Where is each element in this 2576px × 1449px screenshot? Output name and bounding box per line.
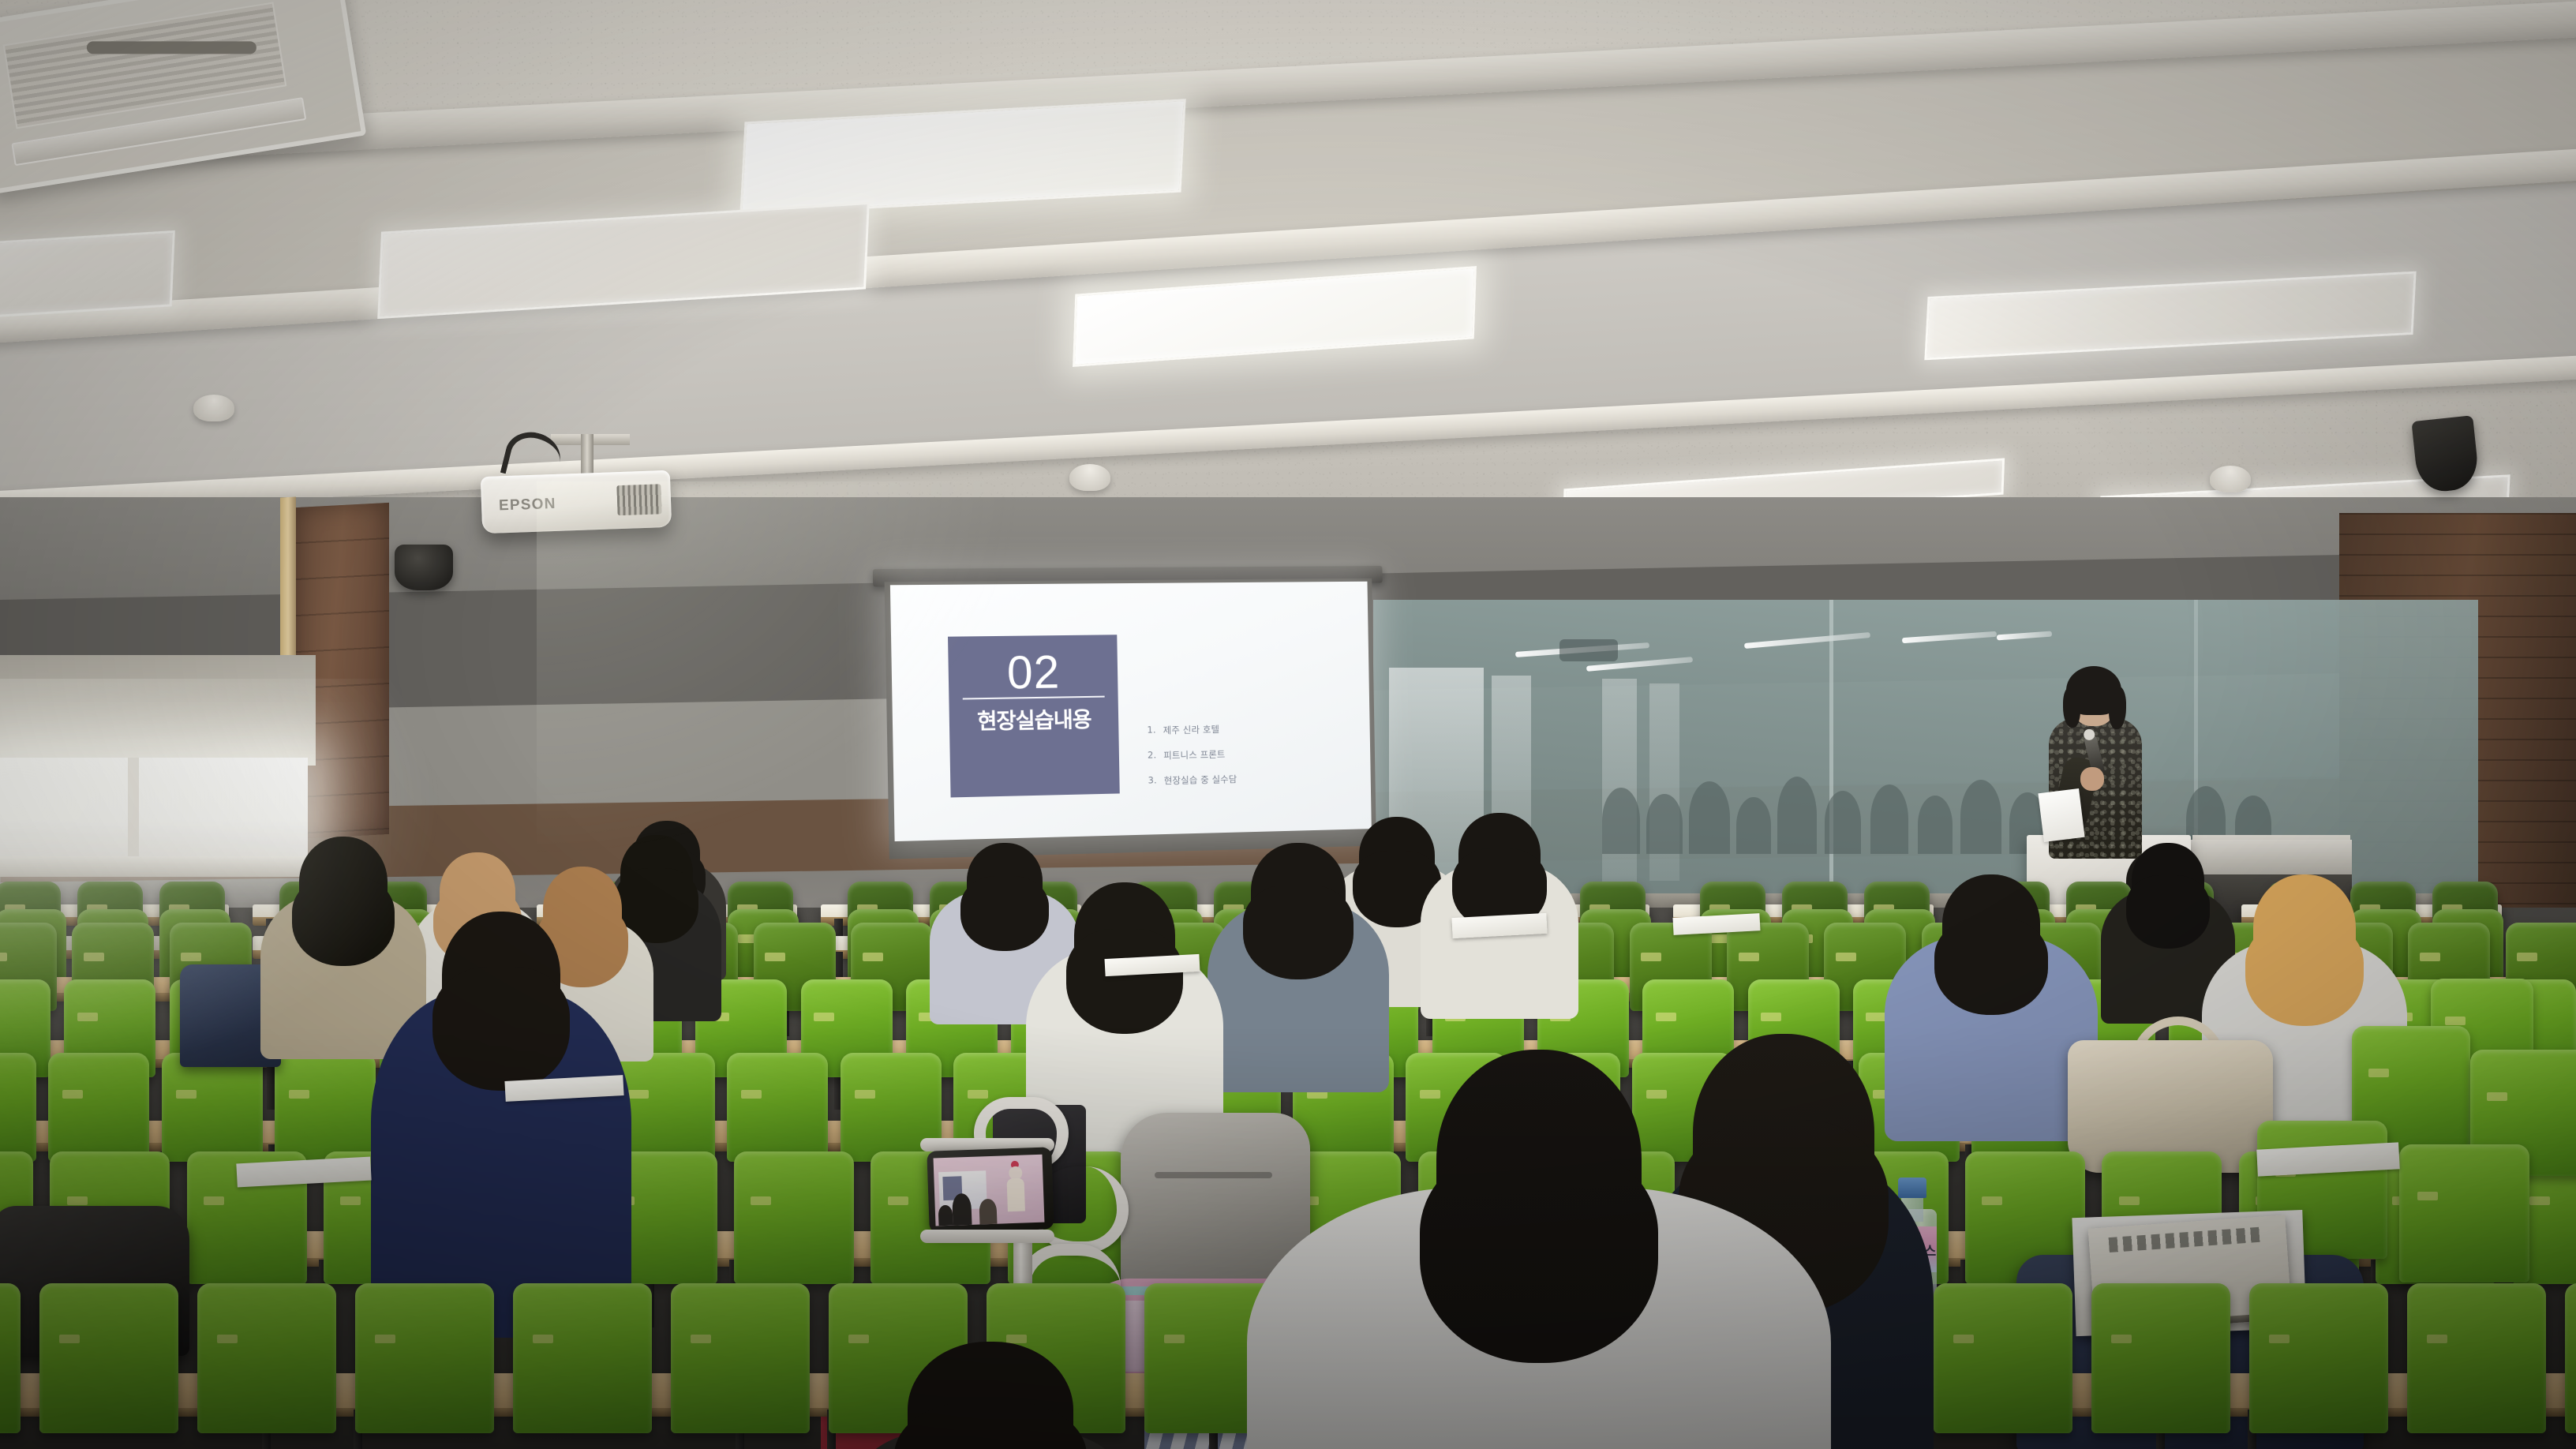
student-white-blouse-mid — [1026, 882, 1223, 1088]
window-mullion — [128, 758, 139, 860]
phone-screen — [934, 1155, 1045, 1226]
glass-reflection-projector — [1559, 639, 1618, 661]
presenter-script-papers — [2038, 788, 2084, 842]
projector-vent — [616, 485, 661, 515]
projection-screen: 02 현장실습내용 1.제주 신라 호텔2.피트니스 프론트3.현장실습 중 실… — [885, 578, 1376, 859]
person-hair — [1243, 885, 1353, 979]
screen-frame: 02 현장실습내용 1.제주 신라 호텔2.피트니스 프론트3.현장실습 중 실… — [885, 578, 1376, 859]
chair[interactable] — [671, 1283, 810, 1433]
student-universe-tee — [1421, 813, 1578, 968]
glass-reflection-light — [1902, 631, 1997, 643]
chair[interactable] — [0, 1053, 36, 1162]
chair[interactable] — [2249, 1283, 2388, 1433]
smoke-detector-icon — [2210, 466, 2251, 492]
glass-reflection-person — [1777, 777, 1817, 854]
glass-reflection-person — [1918, 796, 1953, 854]
slide-section-box: 02 현장실습내용 — [948, 635, 1120, 798]
speaker-icon — [395, 545, 453, 590]
smoke-detector-icon — [193, 395, 234, 421]
glass-reflection-person — [1646, 794, 1683, 854]
smoke-detector-icon — [1069, 464, 1110, 491]
phone-screen-figure — [952, 1193, 972, 1226]
slide-bullet-item: 1.제주 신라 호텔 — [1145, 720, 1361, 736]
slide-bullet-text: 피트니스 프론트 — [1163, 747, 1226, 762]
glass-mullion — [1829, 600, 1833, 900]
person-hair — [2126, 875, 2211, 949]
chair[interactable] — [2407, 1283, 2546, 1433]
slide-section-number: 02 — [1006, 651, 1060, 695]
chair[interactable] — [513, 1283, 652, 1433]
chair[interactable] — [2565, 1283, 2576, 1433]
glass-reflection-light — [1997, 631, 2052, 641]
presentation-slide: 02 현장실습내용 1.제주 신라 호텔2.피트니스 프론트3.현장실습 중 실… — [890, 582, 1372, 841]
window-blind-left[interactable] — [0, 655, 316, 766]
lecture-hall-photo: EPSON 02 현장실습내용 1.제주 신라 호텔2.피트니스 프론트3.현장… — [0, 0, 2576, 1449]
slide-bullet-text: 현장실습 중 실수담 — [1164, 773, 1237, 787]
slide-bullet-number: 1. — [1145, 724, 1156, 736]
projector-icon: EPSON — [481, 470, 672, 534]
glass-reflection-person — [1825, 791, 1861, 854]
slide-bullet-list: 1.제주 신라 호텔2.피트니스 프론트3.현장실습 중 실수담 — [1145, 720, 1362, 799]
slide-bullet-item: 3.현장실습 중 실수담 — [1146, 769, 1361, 787]
smartphone[interactable] — [927, 1147, 1054, 1233]
ceiling-light-panel — [0, 230, 175, 319]
person-hair — [432, 967, 570, 1091]
slide-section-title: 현장실습내용 — [977, 702, 1091, 736]
person-hair — [1420, 1146, 1658, 1364]
glass-reflection-person — [1870, 784, 1908, 854]
person-hair — [2245, 921, 2364, 1026]
chair[interactable] — [2091, 1283, 2230, 1433]
student-grey-shirt-mid — [1207, 843, 1389, 1032]
foreground-white-polo — [1247, 1050, 1831, 1449]
glass-reflection-light — [1744, 632, 1870, 649]
ac-rod — [87, 42, 256, 54]
chair[interactable] — [1934, 1283, 2072, 1433]
presenter-hair-side — [2109, 687, 2126, 729]
glass-reflection-person — [1960, 780, 2001, 854]
phone-screen-presenter — [1006, 1166, 1025, 1213]
person-hair — [1066, 929, 1183, 1034]
glass-reflection-window — [1602, 679, 1637, 892]
phone-screen-figure — [938, 1205, 953, 1226]
slide-divider — [963, 695, 1105, 699]
phone-screen-figure — [979, 1199, 997, 1225]
projector-brand-label: EPSON — [499, 496, 556, 515]
chair[interactable] — [734, 1151, 854, 1284]
slide-bullet-number: 2. — [1145, 749, 1156, 762]
phone-screen-presenter-body — [1006, 1178, 1024, 1212]
presenter-hair-side — [2063, 687, 2080, 728]
slide-bullet-item: 2.피트니스 프론트 — [1145, 745, 1361, 762]
chair[interactable] — [2399, 1144, 2529, 1282]
presenter — [2044, 672, 2147, 854]
chair[interactable] — [0, 1283, 21, 1433]
foreground-bottom-face — [860, 1342, 1121, 1449]
glass-reflection-person — [1736, 797, 1771, 854]
chair[interactable] — [39, 1283, 178, 1433]
glass-reflection-person — [1689, 781, 1730, 854]
phone-clamp-bottom — [920, 1230, 1054, 1243]
chair[interactable] — [275, 1053, 376, 1162]
glass-reflection-person — [1602, 788, 1640, 854]
chair[interactable] — [727, 1053, 828, 1162]
chair[interactable] — [355, 1283, 494, 1433]
slide-bullet-text: 제주 신라 호텔 — [1163, 723, 1220, 736]
person-hair — [1934, 918, 2048, 1016]
book-title-text — [2109, 1227, 2263, 1252]
chair[interactable] — [48, 1053, 149, 1162]
chair[interactable] — [197, 1283, 336, 1433]
slide-bullet-number: 3. — [1146, 774, 1157, 787]
presenter-hand — [2080, 767, 2104, 791]
chair[interactable] — [162, 1053, 263, 1162]
